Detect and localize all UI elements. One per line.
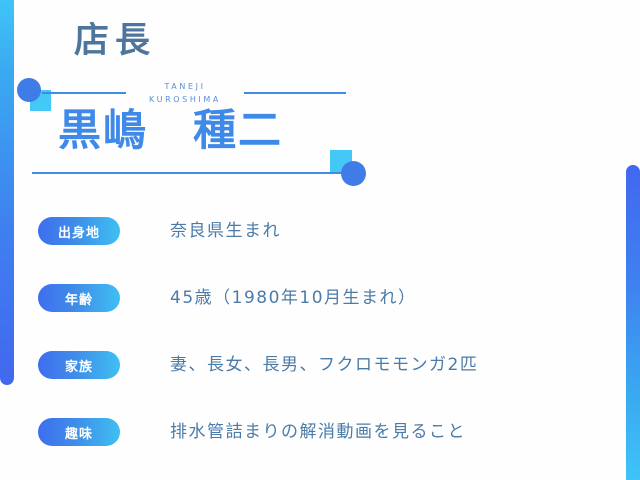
divider-name-underline	[32, 172, 345, 174]
info-row-age: 年齢 45歳（1980年10月生まれ）	[0, 277, 640, 344]
info-row-birthplace: 出身地 奈良県生まれ	[0, 210, 640, 277]
info-label-badge: 年齢	[38, 284, 120, 312]
divider-left	[42, 92, 126, 94]
info-label-badge: 趣味	[38, 418, 120, 446]
romanized-given-name: TANEJI	[126, 80, 244, 93]
info-label-badge: 家族	[38, 351, 120, 379]
decoration-circle-icon	[17, 78, 41, 102]
info-value: 排水管詰まりの解消動画を見ること	[170, 416, 466, 448]
divider-right	[244, 92, 346, 94]
romanized-name: TANEJI KUROSHIMA	[126, 80, 244, 106]
decoration-circle-icon	[341, 161, 366, 186]
info-value: 奈良県生まれ	[170, 215, 281, 247]
info-list: 出身地 奈良県生まれ 年齢 45歳（1980年10月生まれ） 家族 妻、長女、長…	[0, 210, 640, 478]
info-row-hobby: 趣味 排水管詰まりの解消動画を見ること	[0, 411, 640, 478]
profile-card: 店長 TANEJI KUROSHIMA 黒嶋 種二 出身地 奈良県生まれ 年齢 …	[0, 0, 640, 480]
info-value: 45歳（1980年10月生まれ）	[170, 282, 417, 314]
decoration-circle-square-right	[330, 150, 374, 186]
decoration-circle-square-left	[15, 78, 55, 112]
role-title: 店長	[74, 24, 156, 59]
person-name: 黒嶋 種二	[58, 106, 283, 157]
romanized-family-name: KUROSHIMA	[126, 93, 244, 106]
info-row-family: 家族 妻、長女、長男、フクロモモンガ2匹	[0, 344, 640, 411]
info-label-badge: 出身地	[38, 217, 120, 245]
info-value: 妻、長女、長男、フクロモモンガ2匹	[170, 349, 478, 381]
